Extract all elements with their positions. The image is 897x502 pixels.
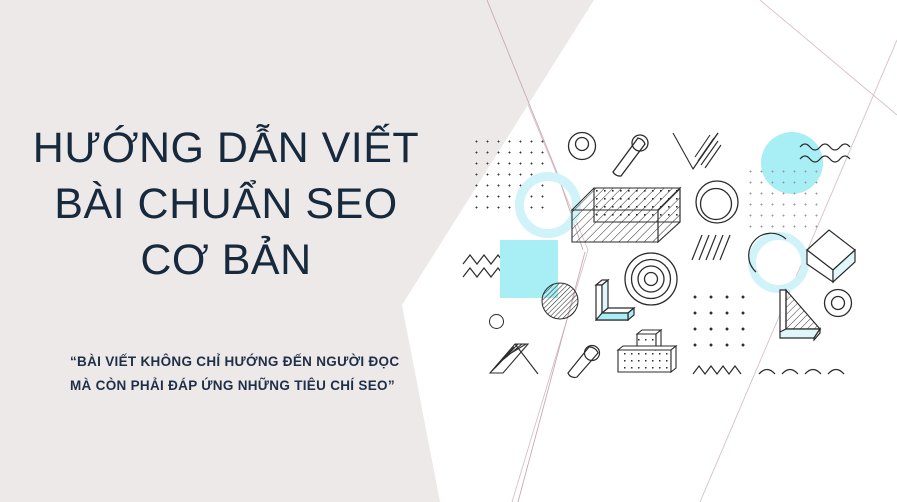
chevron-striped-icon bbox=[490, 341, 544, 375]
tiny-circle-icon bbox=[489, 314, 504, 329]
hatched-circle-icon bbox=[541, 282, 579, 320]
box-3d-hatched-icon bbox=[570, 180, 682, 250]
slide-subtitle: “BÀI VIẾT KHÔNG CHỈ HƯỚNG ĐẾN NGƯỜI ĐỌC … bbox=[70, 350, 400, 398]
pill-small-icon bbox=[565, 343, 607, 379]
checkmark-striped-icon bbox=[672, 131, 724, 175]
dot-grid-square-2-icon bbox=[745, 166, 820, 234]
slide-title: HƯỚNG DẪN VIẾT BÀI CHUẨN SEO CƠ BẢN bbox=[0, 120, 452, 288]
target-circles-icon bbox=[623, 251, 679, 307]
title-line-2: BÀI CHUẨN SEO bbox=[0, 176, 452, 232]
zigzag-small-icon bbox=[692, 362, 742, 378]
blocks-3d-dotted-icon bbox=[615, 330, 683, 380]
dot-grid-square-3-icon bbox=[687, 289, 751, 353]
title-line-3: CƠ BẢN bbox=[0, 232, 452, 288]
double-circle-icon bbox=[693, 179, 741, 227]
wedge-3d-hatched-icon bbox=[770, 288, 822, 342]
wave-lines-icon bbox=[800, 140, 860, 168]
title-line-1: HƯỚNG DẪN VIẾT bbox=[0, 120, 452, 176]
circle-in-circle-icon bbox=[565, 128, 599, 162]
arch-row-icon bbox=[757, 362, 849, 380]
diagonal-stripes-icon bbox=[690, 232, 732, 264]
pill-diagonal-icon bbox=[607, 130, 652, 178]
cube-3d-icon bbox=[805, 228, 857, 284]
ring-icon-small bbox=[823, 288, 853, 318]
slide-canvas: HƯỚNG DẪN VIẾT BÀI CHUẨN SEO CƠ BẢN “BÀI… bbox=[0, 0, 897, 502]
ring-arc-icon bbox=[748, 232, 809, 293]
